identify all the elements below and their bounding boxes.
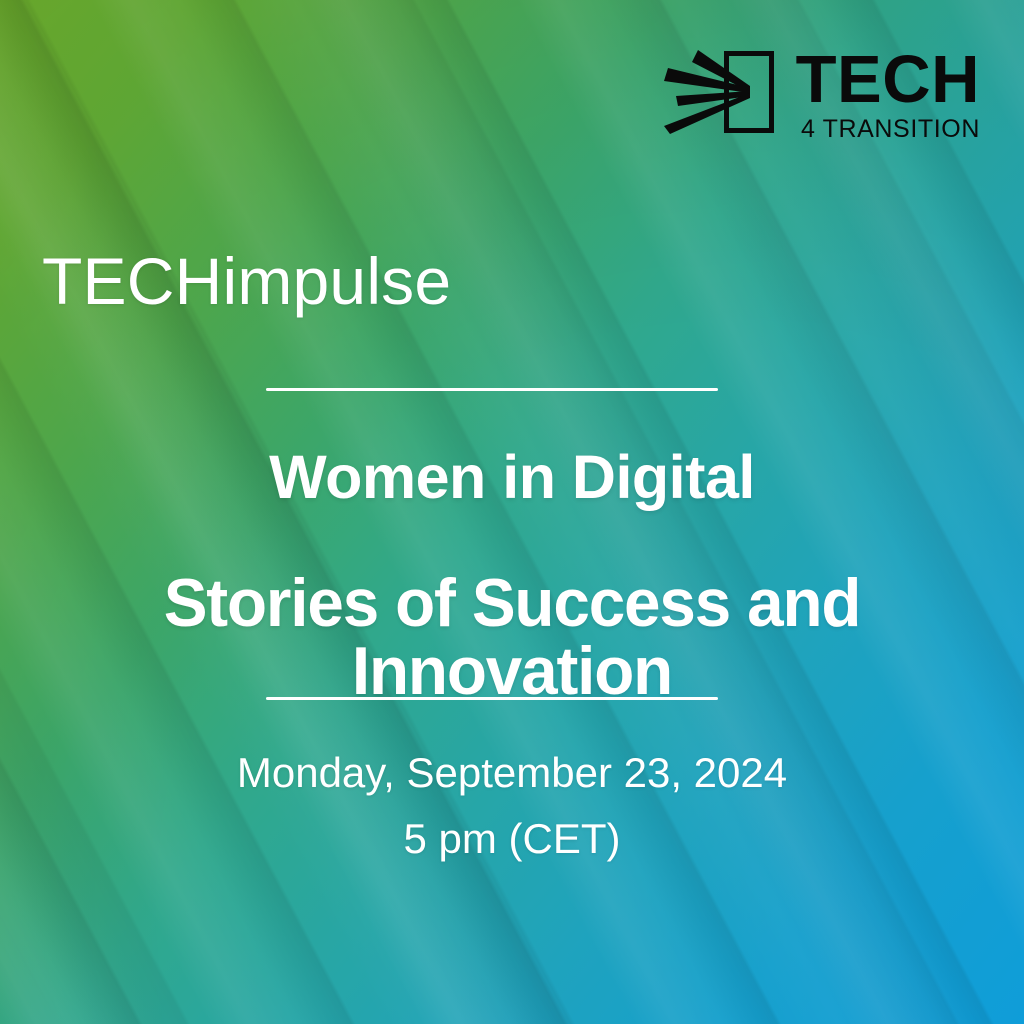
logo-tagline: 4 TRANSITION <box>801 117 980 142</box>
event-date: Monday, September 23, 2024 <box>0 752 1024 794</box>
event-announcement-poster: TECH 4 TRANSITION TECHimpulse Women in D… <box>0 0 1024 1024</box>
logo-wordmark: TECH <box>796 48 980 112</box>
event-title-line-2: Stories of Success and Innovation <box>18 569 1006 705</box>
divider-bottom <box>266 697 718 700</box>
series-brand-title: TECHimpulse <box>42 248 451 314</box>
event-time: 5 pm (CET) <box>0 818 1024 860</box>
tech4transition-arrow-mark <box>662 46 782 138</box>
divider-top <box>266 388 718 391</box>
background-gradient <box>0 0 1024 1024</box>
logo-wordmark-group: TECH 4 TRANSITION <box>796 46 980 142</box>
event-title-line-1: Women in Digital <box>0 447 1024 508</box>
tech4transition-logo: TECH 4 TRANSITION <box>662 46 980 142</box>
